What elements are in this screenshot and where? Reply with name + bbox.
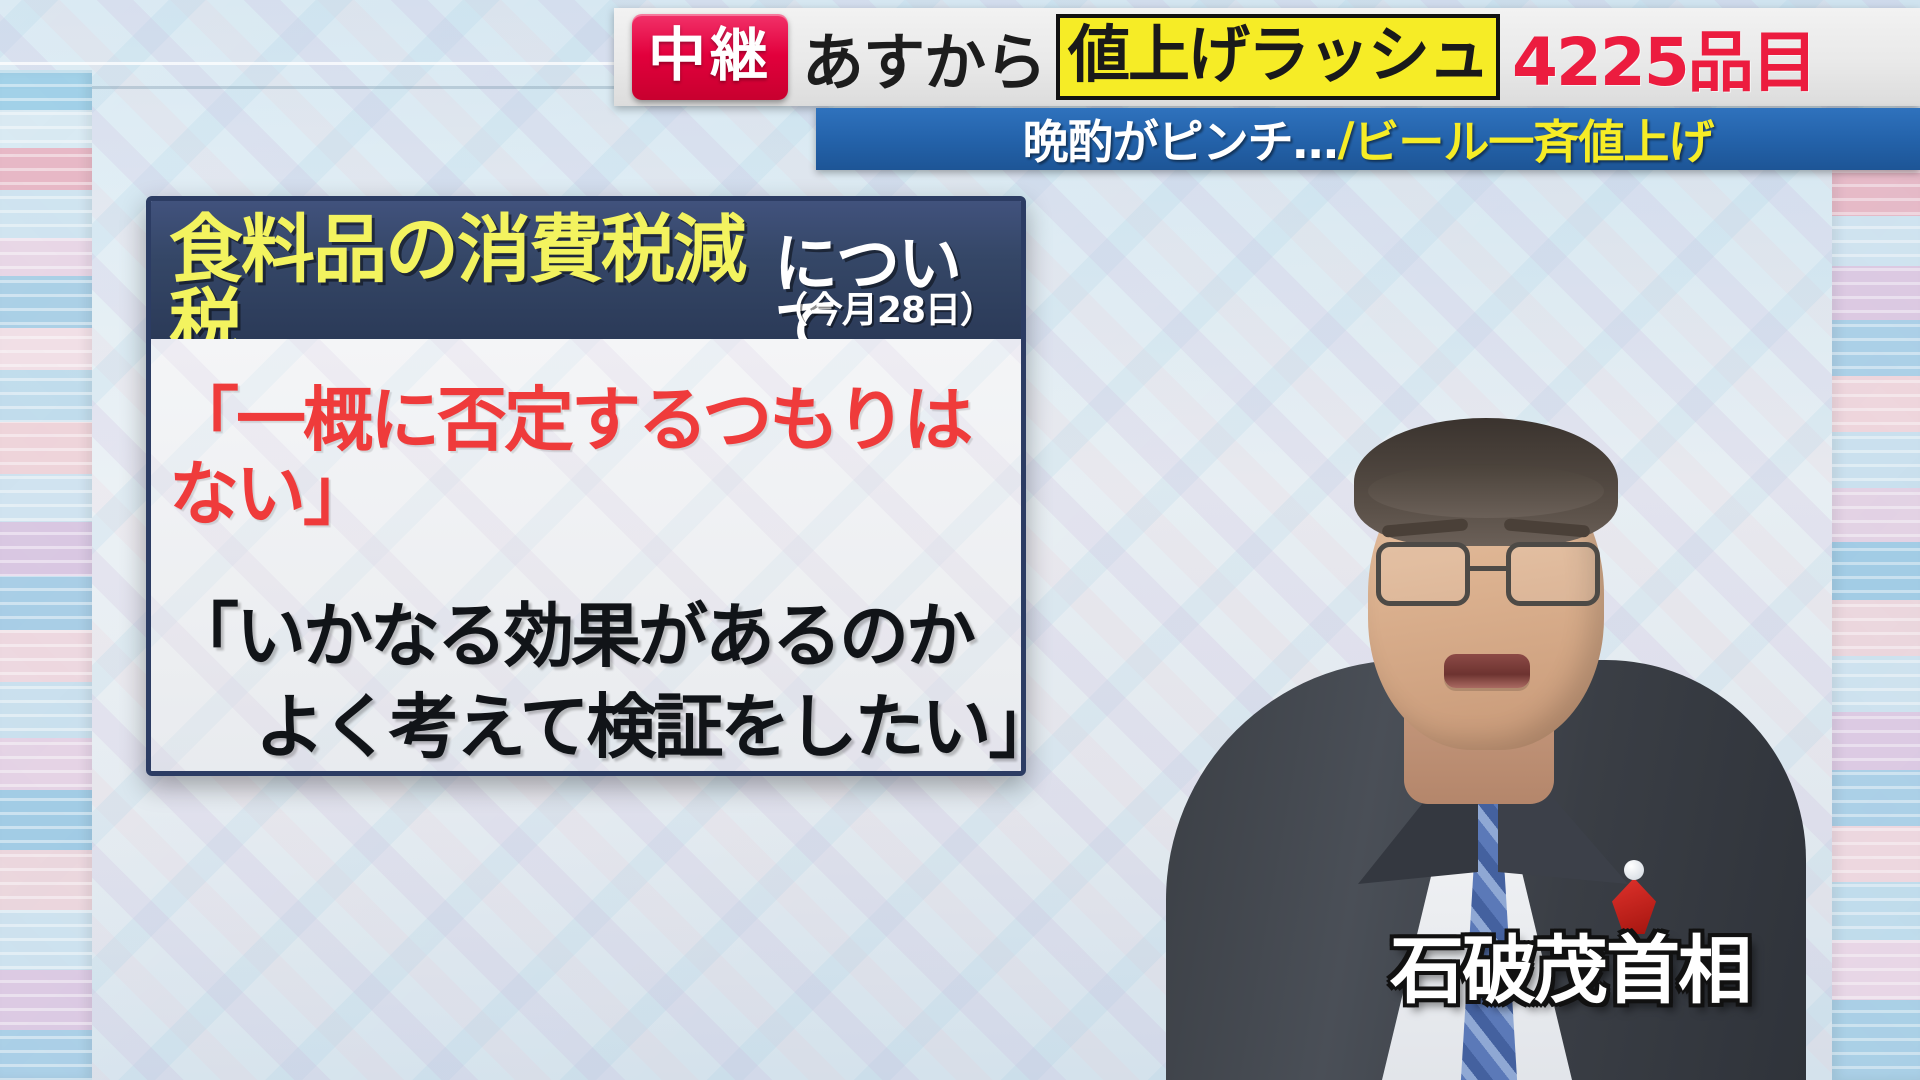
headline-highlight-text: 値上げラッシュ: [1056, 14, 1500, 100]
glasses-bridge: [1470, 566, 1506, 571]
glasses-lens-right: [1506, 542, 1600, 606]
wall-shelf-line-bottom: [0, 86, 640, 89]
speaker-nameplate: 石破茂首相: [1390, 911, 1750, 1018]
lapel-pin-badge: [1624, 860, 1644, 880]
subheadline-white-text: 晩酌がピンチ…: [1023, 106, 1338, 172]
headline-item-count: 4225品目: [1512, 9, 1816, 105]
glasses-lens-left: [1376, 542, 1470, 606]
quote-panel: 食料品の消費税減税 について （今月28日） 「一概に否定するつもりはない」 「…: [146, 196, 1026, 776]
quote-black-text: 「いかなる効果があるのか よく考えて検証をしたい」: [151, 591, 1021, 773]
quote-red-text: 「一概に否定するつもりはない」: [151, 383, 1021, 531]
subheadline-banner: 晩酌がピンチ… / ビール一斉値上げ: [816, 108, 1920, 170]
quote-panel-header: 食料品の消費税減税 について （今月28日）: [151, 201, 1021, 339]
broadcast-screen: 中継 あすから 値上げラッシュ 4225品目 晩酌がピンチ… / ビール一斉値上…: [0, 0, 1920, 1080]
headline-lead-text: あすから: [802, 12, 1046, 102]
subheadline-yellow-text: ビール一斉値上げ: [1353, 106, 1713, 172]
quote-panel-body: 「一概に否定するつもりはない」 「いかなる効果があるのか よく考えて検証をしたい…: [151, 339, 1021, 776]
quote-black-line-2: よく考えて検証をしたい」: [169, 682, 1021, 773]
quote-black-line-1: 「いかなる効果があるのか: [169, 595, 973, 677]
headline-banner: 中継 あすから 値上げラッシュ 4225品目: [614, 8, 1920, 106]
panel-date-note: （今月28日）: [772, 281, 995, 333]
eyeglasses: [1376, 542, 1600, 612]
studio-color-strip-right: [1832, 170, 1920, 1080]
mouth: [1444, 654, 1530, 688]
studio-color-strip-left: [0, 70, 92, 1080]
subheadline-separator: /: [1338, 112, 1354, 166]
live-badge: 中継: [632, 14, 788, 100]
wall-shelf-line-top: [0, 62, 640, 65]
